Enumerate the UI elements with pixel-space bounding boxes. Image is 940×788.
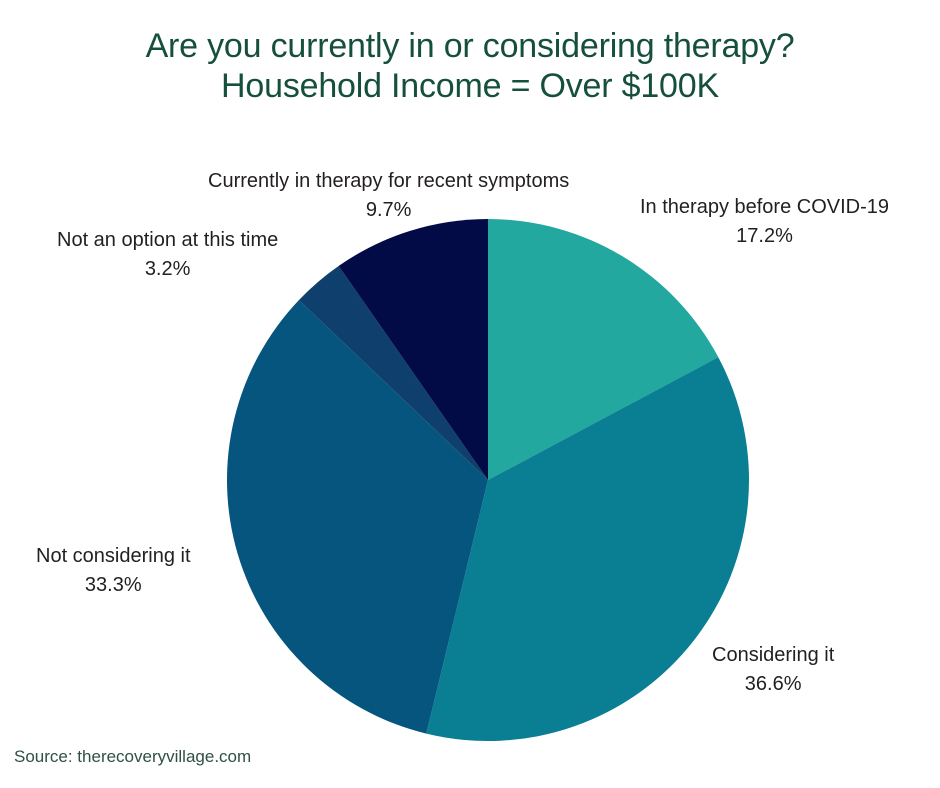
slice-label-name: In therapy before COVID-19 [640,193,889,222]
chart-title-line-2: Household Income = Over $100K [0,66,940,106]
slice-label-value: 36.6% [712,670,834,699]
pie-slice-not-considering-it [227,300,488,733]
source-note: Source: therecoveryvillage.com [14,747,251,767]
pie-chart-figure: Are you currently in or considering ther… [0,0,940,788]
chart-title-line-1: Are you currently in or considering ther… [0,26,940,66]
pie-slice-not-an-option-at-this-time [299,266,488,480]
slice-label-considering-it: Considering it 36.6% [712,641,834,699]
slice-label-value: 9.7% [208,196,569,225]
pie-slice-in-therapy-before-covid-19 [488,219,718,480]
pie-slice-currently-in-therapy-for-recent-symptoms [339,219,488,480]
chart-title: Are you currently in or considering ther… [0,26,940,106]
slice-label-value: 3.2% [57,255,278,284]
pie-slice-considering-it [426,357,749,741]
slice-label-name: Considering it [712,641,834,670]
slice-label-value: 17.2% [640,222,889,251]
slice-label-not-considering-it: Not considering it 33.3% [36,542,191,600]
slice-label-value: 33.3% [36,571,191,600]
slice-label-in-therapy-before-covid-19: In therapy before COVID-19 17.2% [640,193,889,251]
pie-slice-group [227,219,749,741]
slice-label-name: Not an option at this time [57,226,278,255]
slice-label-name: Not considering it [36,542,191,571]
slice-label-not-an-option-at-this-time: Not an option at this time 3.2% [57,226,278,284]
slice-label-name: Currently in therapy for recent symptoms [208,167,569,196]
slice-label-currently-in-therapy-for-recent-symptoms: Currently in therapy for recent symptoms… [208,167,569,225]
